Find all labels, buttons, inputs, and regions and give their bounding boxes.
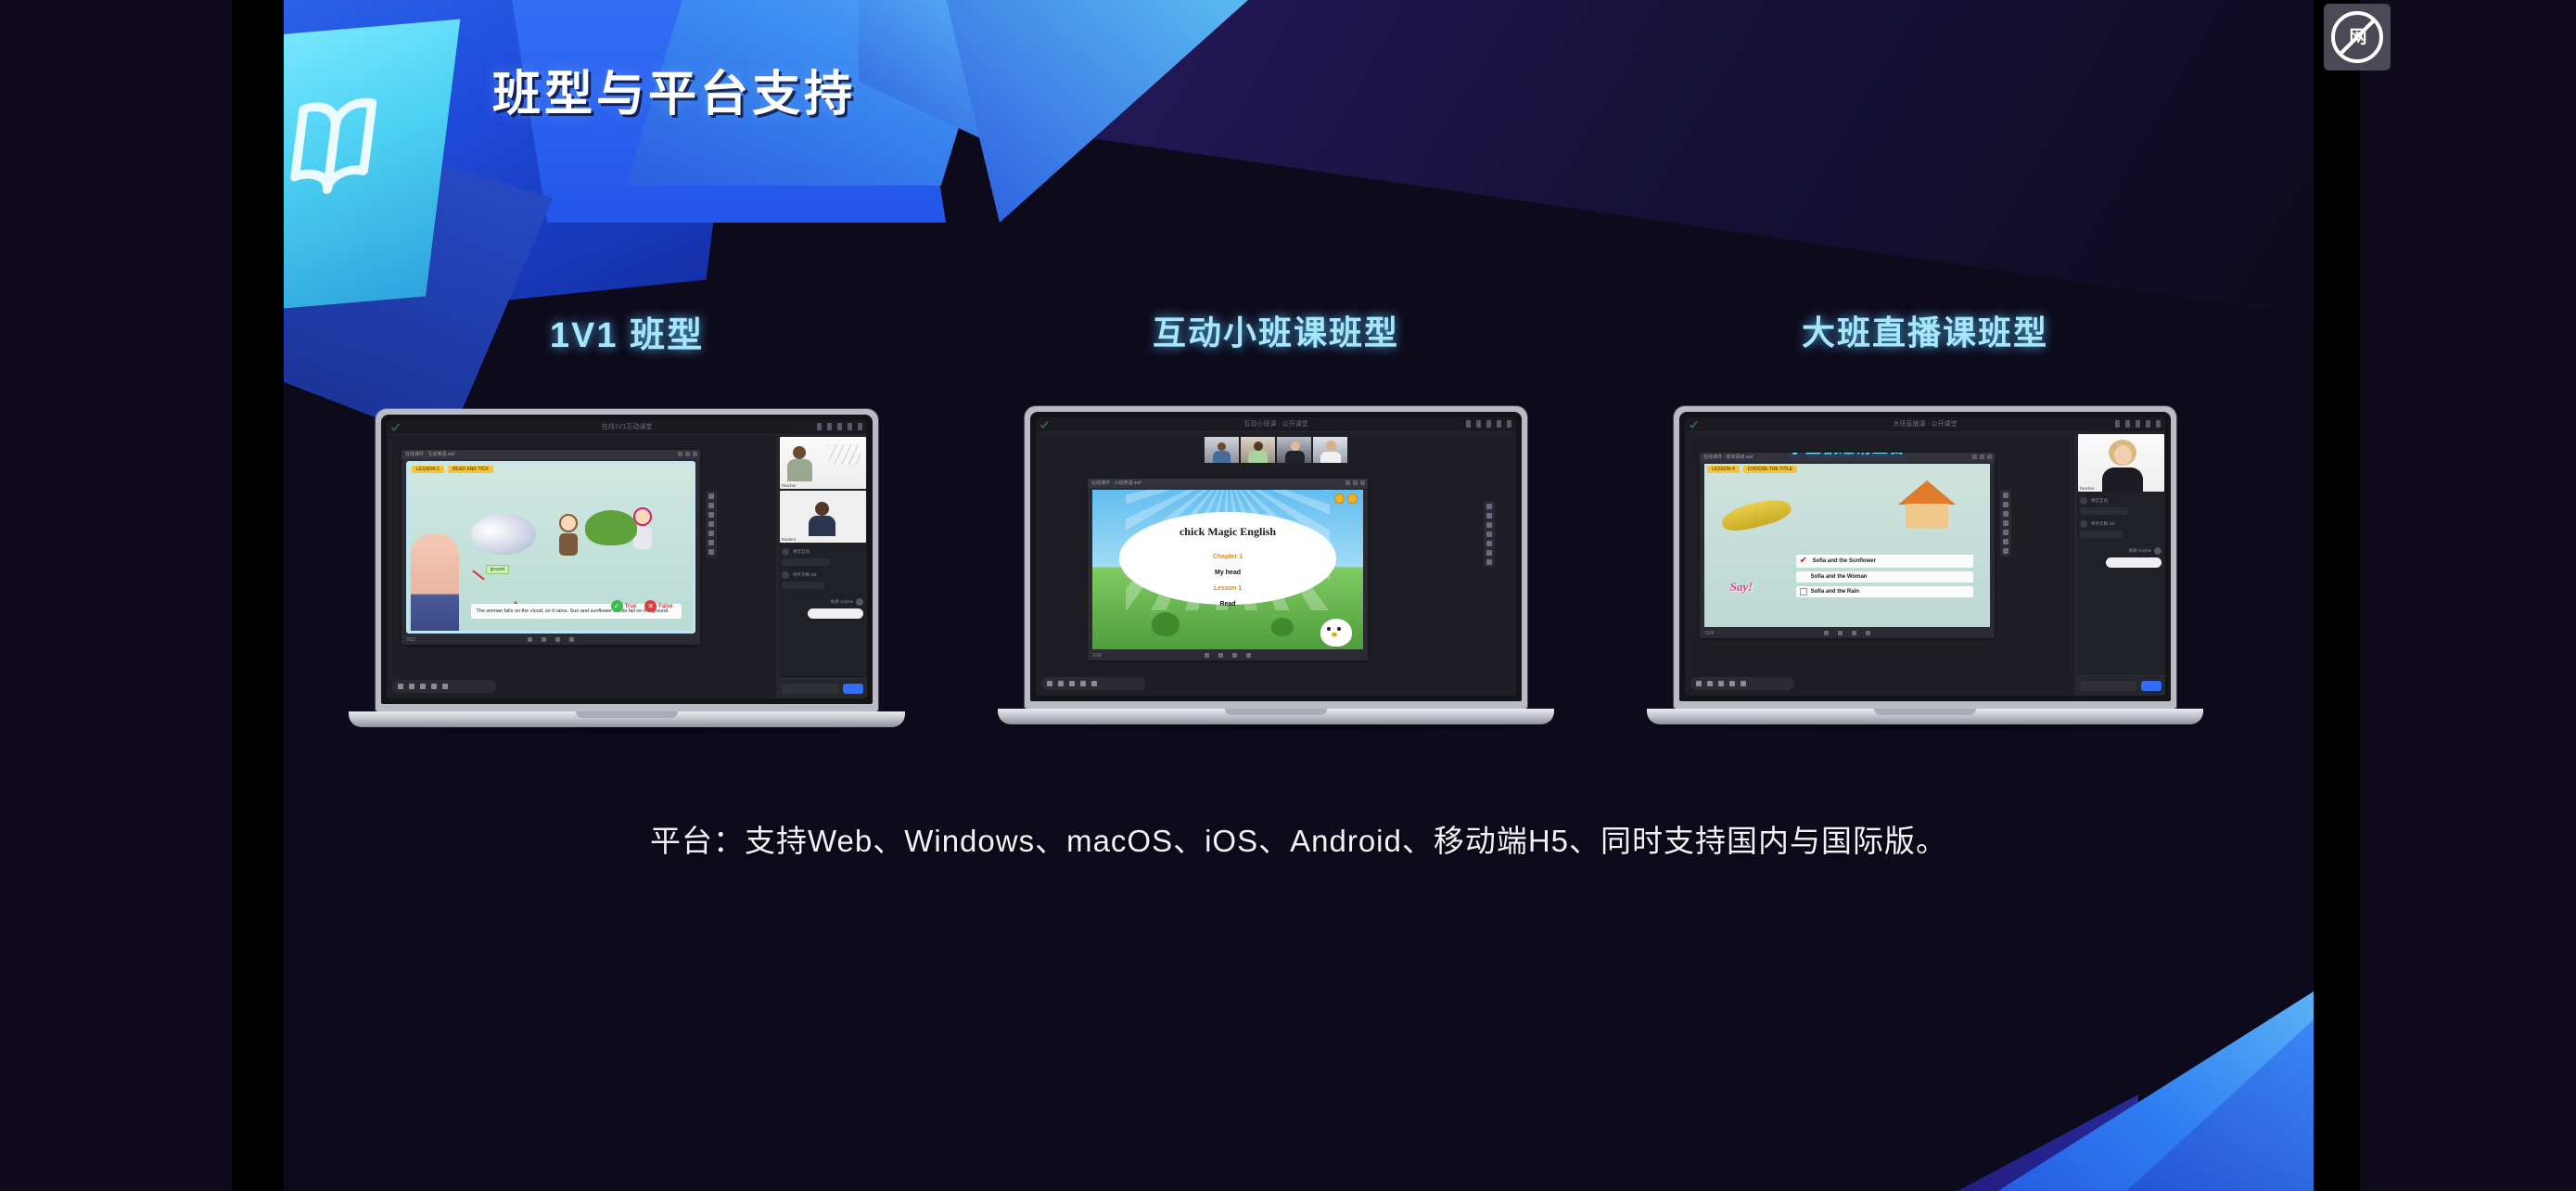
participant-tile[interactable] [1313,437,1347,463]
panel-section-icon [2080,497,2087,505]
courseware-titlebar: 在线课件 · 互动英语.swf [402,450,700,459]
pen-tool-icon[interactable] [708,503,714,508]
presentation-slide: 班型与平台支持 1V1 班型 在线1V1互动课堂 [284,0,2314,1191]
laptop-lid: 互动小班课 · 公开课堂 [1025,406,1527,709]
more-tool-icon[interactable] [708,549,714,555]
choice-false[interactable]: ✕ False [644,600,672,612]
settings-icon[interactable] [1497,420,1501,428]
redo-icon[interactable] [1729,681,1735,686]
maximize-icon[interactable] [685,452,690,456]
laptop-shadow [1647,724,2240,731]
annotation-stroke-1 [472,570,485,580]
exit-icon[interactable] [1507,420,1511,428]
pointer-tool-icon[interactable] [1486,504,1492,509]
exit-icon[interactable] [2156,420,2161,428]
classroom-appbar: 大班直播课 · 公开课堂 [1685,417,2165,432]
check-icon: ✔ [1800,557,1809,566]
courseware-footer: 7/24 [1700,628,1995,638]
bottom-tool-strip [1690,677,1794,690]
vertical-tool-palette [706,491,717,557]
courseware-slide-1v1: LESSON 2 READ AND TICK [406,461,695,634]
panel-stat-row: 举手次数 3/5 [782,571,863,579]
next-page-icon[interactable] [1852,631,1856,635]
chick-mascot [1320,619,1352,647]
doc-icon[interactable] [1047,681,1052,686]
slide-tag-left: LESSON 2 [412,466,444,473]
slide-tags: LESSON 4 CHOOSE THE TITLE [1704,464,1800,475]
panel-section-icon [782,548,789,556]
signal-icon[interactable] [817,423,822,430]
laptop-1v1: 在线1V1互动课堂 [349,409,905,734]
laptop-lid: 大班直播课 · 公开课堂 [1674,406,2176,709]
kid-body [559,533,578,556]
prev-page-icon[interactable] [1824,631,1829,635]
laptop-bezel: 互动小班课 · 公开课堂 [1030,412,1522,701]
courseware-window-1v1: 在线课件 · 互动英语.swf [402,450,700,645]
column-heading-big-class: 大班直播课班型 [1638,306,2213,354]
student-figure [815,502,829,516]
text-tool-icon[interactable] [2003,530,2009,535]
eraser-tool-icon[interactable] [2003,511,2009,517]
chat-sender-line: 助教 Sophie [2080,547,2162,555]
classroom-appbar: 在线1V1互动课堂 [387,420,867,435]
participant-head [1218,442,1226,451]
brush-icon[interactable] [1707,681,1713,686]
pointing-hand-illustration [411,533,459,631]
laptop-screen-1v1: 在线1V1互动课堂 [387,420,867,698]
participant-head [1291,442,1300,451]
more-tool-icon[interactable] [2003,548,2009,554]
teacher-head [2114,445,2132,465]
doc-icon[interactable] [398,684,403,689]
participant-tile[interactable] [1277,437,1311,463]
participant-body [1285,451,1305,463]
chat-bubble [2106,557,2162,568]
avatar [856,598,863,606]
classroom-appbar: 互动小班课 · 公开课堂 [1036,417,1516,432]
caterpillar-illustration [1719,494,1793,535]
avatar [2154,547,2162,555]
teacher-body [2102,467,2143,492]
laptop-base [1647,709,2203,724]
video-tile-name: Teacher [2080,486,2095,491]
chat-input[interactable] [2080,681,2136,691]
choice-true-label: True [625,604,637,609]
classroom-side-panel-big-class: Teacher 课堂互动 [2075,432,2165,696]
more-tool-icon[interactable] [1486,559,1492,565]
rain-cloud-illustration [471,514,536,555]
vertical-tool-palette [2000,490,2011,557]
no-entry-ring-icon: 网 [2331,11,2383,63]
courseware-lesson: Lesson 1 [1092,585,1363,592]
pen-tool-icon[interactable] [1486,513,1492,519]
mic-icon[interactable] [827,423,832,430]
courseware-footer: 3/12 [402,634,700,645]
fullscreen-icon[interactable] [1360,480,1365,485]
participant-head [1326,441,1336,451]
chat-composer [778,678,867,698]
slide-tags: LESSON 2 READ AND TICK [409,464,496,475]
laptop-lid: 在线1V1互动课堂 [376,409,878,711]
kid-illustration-1 [556,514,580,555]
hand-raise-icon [782,571,789,579]
bush-illustration [585,510,637,545]
pointer-tool-icon[interactable] [708,493,714,499]
columns-container: 1V1 班型 在线1V1互动课堂 [284,0,2314,1191]
teacher-figure [793,446,806,459]
vertical-tool-palette [1484,501,1495,568]
play-icon[interactable] [542,637,546,642]
panel-placeholder-row [2080,507,2128,515]
video-tile-name: Teacher [782,483,797,488]
platform-support-text: 平台：支持Web、Windows、macOS、iOS、Android、移动端H5… [284,816,2314,861]
laser-icon[interactable] [1741,681,1746,686]
student-body [809,516,835,536]
participant-body [1248,451,1268,463]
courseware-page-indicator: 3/12 [406,637,415,643]
send-button[interactable] [2141,681,2162,691]
courseware-window-big-class: 学生被邀请上台 在线课件 · 绘本阅读.swf [1700,453,1995,638]
signal-icon[interactable] [2115,420,2120,428]
panel-placeholder-row [2080,531,2123,538]
courseware-titlebar: 在线课件 · 小班英语.swf [1088,479,1368,488]
clear-tool-icon[interactable] [2003,539,2009,544]
slide-tag-left: LESSON 4 [1707,466,1740,473]
courseware-slide-big-class: LESSON 4 CHOOSE THE TITLE [1704,464,1990,627]
participant-body [1320,452,1341,463]
coin-icon[interactable] [1334,493,1345,504]
laptop-base [349,711,905,727]
undo-icon[interactable] [1069,681,1075,686]
courseware-slide-title: chick Magic English [1092,525,1363,539]
brush-icon[interactable] [409,684,414,689]
appbar-icons [2115,420,2161,428]
check-icon: ✓ [611,600,623,612]
doc-icon[interactable] [1696,681,1702,686]
maximize-icon[interactable] [1353,480,1358,485]
label-ground: ground [486,565,510,574]
classroom-app-title: 互动小班课 · 公开课堂 [1243,419,1307,429]
column-heading-small-class: 互动小班课班型 [988,306,1563,354]
courseware-title: 在线课件 · 互动英语.swf [405,451,454,457]
chat-sender-line: 助教 Sophie [782,598,863,606]
quiz-options: ✔ Sofia and the Sunflower Sofia and the … [1796,555,1973,601]
choice-true[interactable]: ✓ True [611,600,637,612]
send-button[interactable] [843,684,863,694]
black-strip-right [2314,0,2360,1191]
panel-section-header: 课堂互动 [2080,497,2162,505]
column-big-class: 大班直播课班型 大班直播课 · 公开课堂 [1638,306,2213,731]
quiz-option[interactable]: Sofia and the Woman [1796,571,1973,583]
redo-icon[interactable] [431,684,437,689]
app-logo-icon [391,424,400,431]
play-icon[interactable] [1218,653,1223,658]
column-small-class: 互动小班课班型 互动小班课 · 公开课堂 [988,306,1563,731]
courseware-title: 在线课件 · 小班英语.swf [1091,480,1141,486]
blocked-watermark-badge[interactable]: 网 [2324,4,2391,70]
slash-icon [2338,18,2376,56]
coin-icon[interactable] [1347,493,1358,504]
chat-input[interactable] [782,684,838,694]
chat-bubble [808,608,863,619]
courseware-page-indicator: 7/24 [1704,631,1714,636]
stage-invite-banner: 学生被邀请上台 [1700,453,1995,457]
checkbox[interactable] [1800,588,1807,595]
courseware-chapter: Chapter 1 [1092,554,1363,560]
true-false-choices: ✓ True ✕ False [611,600,673,612]
fullscreen-toggle-icon[interactable] [1246,653,1251,658]
shape-tool-icon[interactable] [708,521,714,527]
classroom-side-panel-1v1: Teacher Student [777,435,867,698]
settings-icon[interactable] [2146,420,2150,428]
panel-section-label: 课堂互动 [2091,498,2108,504]
tree-illustration [1152,612,1180,636]
classroom-body: 在线课件 · 小班英语.swf [1036,432,1516,696]
laptop-shadow [349,727,942,734]
laptop-base [998,709,1554,724]
teacher-body [787,459,812,481]
shape-tool-icon[interactable] [1486,531,1492,537]
eraser-tool-icon[interactable] [708,512,714,518]
panel-section-header: 课堂互动 [782,548,863,556]
chat-sender-name: 助教 Sophie [2129,548,2151,554]
fullscreen-toggle-icon[interactable] [569,637,574,642]
panel-placeholder-row [782,558,830,566]
shape-tool-icon[interactable] [2003,520,2009,526]
courseware-action: Read [1092,601,1363,608]
kid-head [559,514,578,532]
tree-illustration [1271,618,1294,636]
quiz-option-label: Sofia and the Rain [1811,589,1859,595]
video-tile-student[interactable]: Student [780,491,866,543]
app-logo-icon [1040,421,1049,429]
quiz-option[interactable]: ✔ Sofia and the Sunflower [1796,555,1973,568]
classroom-body: 学生被邀请上台 在线课件 · 绘本阅读.swf [1685,432,2165,696]
prev-page-icon[interactable] [1205,653,1209,658]
panel-placeholder-row [782,582,824,589]
fullscreen-icon[interactable] [693,452,697,456]
courseware-unit: My head [1092,570,1363,576]
laptop-screen-small-class: 互动小班课 · 公开课堂 [1036,417,1516,696]
redo-icon[interactable] [1080,681,1086,686]
next-page-icon[interactable] [555,637,560,642]
slide-tag-right: READ AND TICK [448,466,493,473]
laptop-big-class: 大班直播课 · 公开课堂 [1647,406,2203,731]
text-tool-icon[interactable] [1486,541,1492,546]
participant-video-strip [1205,437,1347,463]
exit-icon[interactable] [858,423,862,430]
chat-sender-name: 助教 Sophie [831,599,853,605]
video-tile-teacher[interactable]: Teacher [780,437,866,489]
column-heading-1v1: 1V1 班型 [339,306,914,357]
house-wall [1906,504,1948,529]
choice-false-label: False [658,604,672,609]
clear-tool-icon[interactable] [708,540,714,545]
slide-title: 班型与平台支持 [492,55,856,124]
pointer-tool-icon[interactable] [2003,493,2009,498]
laptop-screen-big-class: 大班直播课 · 公开课堂 [1685,417,2165,696]
whiteboard-marks [829,444,861,465]
coin-badges [1334,493,1358,504]
chat-composer [2076,675,2165,696]
video-tile-teacher[interactable]: Teacher [2078,434,2164,492]
panel-section-label: 课堂互动 [793,549,810,555]
quiz-option-label: Sofia and the Sunflower [1813,558,1876,564]
appbar-icons [817,423,862,430]
camera-icon[interactable] [1486,420,1491,428]
minimize-icon[interactable] [678,452,682,456]
laptop-bezel: 在线1V1互动课堂 [381,415,873,704]
house-illustration [1898,480,1956,529]
play-icon[interactable] [1838,631,1843,635]
panel-stat-label: 举手次数 3/5 [793,572,817,578]
quiz-option-label: Sofia and the Woman [1811,574,1868,580]
laser-icon[interactable] [1091,681,1097,686]
courseware-window-small-class: 在线课件 · 小班英语.swf [1088,479,1368,660]
participant-head [1254,442,1263,451]
eraser-tool-icon[interactable] [1486,522,1492,528]
appbar-icons [1466,420,1511,428]
brush-icon[interactable] [1058,681,1064,686]
panel-stat-label: 举手次数 3/5 [2091,521,2115,527]
say-label: Say! [1730,580,1753,595]
window-buttons [1345,480,1365,485]
bottom-tool-strip [392,680,496,693]
laptop-small-class: 互动小班课 · 公开课堂 [998,406,1554,731]
house-roof [1898,480,1956,505]
laptop-bezel: 大班直播课 · 公开课堂 [1679,412,2171,701]
courseware-footer: 1/18 [1088,650,1368,660]
slide-tag-right: CHOOSE THE TITLE [1743,466,1797,473]
laser-icon[interactable] [442,684,448,689]
video-tile-name: Student [782,537,797,542]
undo-icon[interactable] [1718,681,1724,686]
camera-icon[interactable] [2136,420,2140,428]
mic-icon[interactable] [1476,420,1481,428]
screenshot-stage: 班型与平台支持 1V1 班型 在线1V1互动课堂 [0,0,2576,1191]
mic-icon[interactable] [2125,420,2130,428]
signal-icon[interactable] [1466,420,1471,428]
pen-tool-icon[interactable] [2003,502,2009,507]
fullscreen-toggle-icon[interactable] [1866,631,1870,635]
checkbox[interactable] [1800,573,1807,581]
app-logo-icon [1690,421,1698,429]
window-buttons [678,452,697,456]
laptop-shadow [998,724,1591,731]
undo-icon[interactable] [420,684,426,689]
participant-tile[interactable] [1205,437,1239,463]
classroom-app-title: 在线1V1互动课堂 [602,422,652,431]
classroom-app-title: 大班直播课 · 公开课堂 [1893,419,1957,429]
clear-tool-icon[interactable] [1486,550,1492,556]
quiz-option[interactable]: Sofia and the Rain [1796,586,1973,597]
prev-page-icon[interactable] [528,637,532,642]
participant-tile[interactable] [1241,437,1275,463]
cross-icon: ✕ [644,600,657,612]
courseware-page-indicator: 1/18 [1092,653,1102,659]
text-tool-icon[interactable] [708,531,714,536]
camera-icon[interactable] [837,423,842,430]
panel-stat-row: 举手次数 3/5 [2080,520,2162,528]
participant-body [1213,451,1231,463]
bottom-tool-strip [1041,677,1145,690]
next-page-icon[interactable] [1232,653,1237,658]
hand-raise-icon [2080,520,2087,528]
letterbox-left [0,0,232,1191]
courseware-slide-small-class: chick Magic English Chapter 1 My head Le… [1092,490,1363,649]
minimize-icon[interactable] [1345,480,1350,485]
black-strip-left [232,0,284,1191]
column-1v1: 1V1 班型 在线1V1互动课堂 [339,306,914,734]
classroom-body: 在线课件 · 互动英语.swf [387,435,867,698]
settings-icon[interactable] [848,423,852,430]
